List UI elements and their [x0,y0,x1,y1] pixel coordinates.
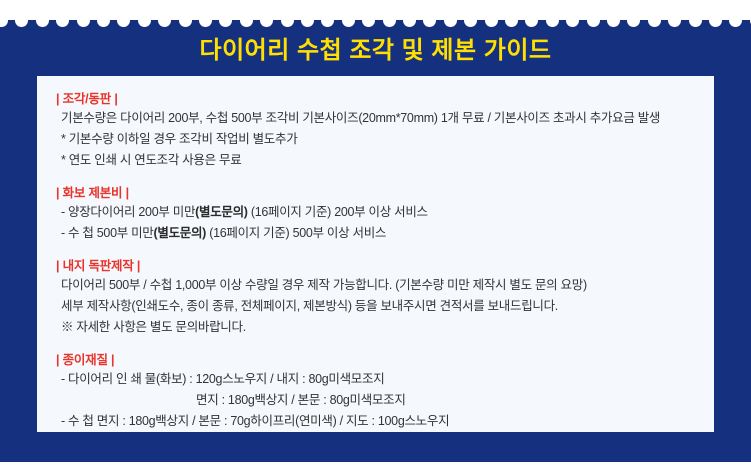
guide-banner: 다이어리 수첩 조각 및 제본 가이드 | 조각/동판 |기본수량은 다이어리 … [0,0,751,473]
page-title: 다이어리 수첩 조각 및 제본 가이드 [0,36,751,66]
line-text: 기본수량은 다이어리 200부, 수첩 500부 조각비 기본사이즈(20mm*… [61,111,660,125]
line-text: 세부 제작사항(인쇄도수, 종이 종류, 전체페이지, 제본방식) 등을 보내주… [61,299,558,313]
section-spacer [37,171,714,184]
guide-section: | 내지 독판제작 |다이어리 500부 / 수첩 1,000부 이상 수량일 … [37,257,714,338]
section-spacer [37,338,714,351]
emphasis-text: (별도문의) [195,205,248,219]
section-line: 면지 : 180g백상지 / 본문 : 80g미색모조지 [61,390,714,411]
section-header: | 화보 제본비 | [37,184,714,202]
guide-section: | 화보 제본비 |- 양장다이어리 200부 미만(별도문의) (16페이지 … [37,184,714,244]
line-text: 면지 : 180g백상지 / 본문 : 80g미색모조지 [196,393,406,407]
section-body: 다이어리 500부 / 수첩 1,000부 이상 수량일 경우 제작 가능합니다… [37,275,714,338]
guide-section: | 조각/동판 |기본수량은 다이어리 200부, 수첩 500부 조각비 기본… [37,90,714,171]
line-text: 다이어리 500부 / 수첩 1,000부 이상 수량일 경우 제작 가능합니다… [61,278,587,292]
section-header: | 조각/동판 | [37,90,714,108]
section-line: ※ 자세한 사항은 별도 문의바랍니다. [61,317,714,338]
section-header: | 종이재질 | [37,351,714,369]
line-text: - 다이어리 인 쇄 물(화보) : 120g스노우지 / 내지 : 80g미색… [61,372,384,386]
emphasis-text: (별도문의) [154,226,207,240]
line-text: - 수 첩 500부 미만 [61,226,154,240]
line-text: ※ 자세한 사항은 별도 문의바랍니다. [61,320,246,334]
line-text: * 기본수량 이하일 경우 조각비 작업비 별도추가 [61,132,297,146]
section-line: 다이어리 500부 / 수첩 1,000부 이상 수량일 경우 제작 가능합니다… [61,275,714,296]
section-line: - 다이어리 인 쇄 물(화보) : 120g스노우지 / 내지 : 80g미색… [61,369,714,390]
line-text: (16페이지 기준) 500부 이상 서비스 [206,226,386,240]
line-text: - 수 첩 면지 : 180g백상지 / 본문 : 70g하이프리(연미색) /… [61,414,449,428]
section-spacer [37,244,714,257]
section-line: - 양장다이어리 200부 미만(별도문의) (16페이지 기준) 200부 이… [61,202,714,223]
section-line: 기본수량은 다이어리 200부, 수첩 500부 조각비 기본사이즈(20mm*… [61,108,714,129]
section-line: - 수 첩 면지 : 180g백상지 / 본문 : 70g하이프리(연미색) /… [61,411,714,432]
section-body: - 양장다이어리 200부 미만(별도문의) (16페이지 기준) 200부 이… [37,202,714,244]
guide-content-card: | 조각/동판 |기본수량은 다이어리 200부, 수첩 500부 조각비 기본… [37,76,714,432]
section-body: 기본수량은 다이어리 200부, 수첩 500부 조각비 기본사이즈(20mm*… [37,108,714,171]
section-line: * 기본수량 이하일 경우 조각비 작업비 별도추가 [61,129,714,150]
sections-container: | 조각/동판 |기본수량은 다이어리 200부, 수첩 500부 조각비 기본… [37,90,714,432]
section-line: 세부 제작사항(인쇄도수, 종이 종류, 전체페이지, 제본방식) 등을 보내주… [61,296,714,317]
section-body: - 다이어리 인 쇄 물(화보) : 120g스노우지 / 내지 : 80g미색… [37,369,714,432]
line-text: * 연도 인쇄 시 연도조각 사용은 무료 [61,153,241,167]
line-text: (16페이지 기준) 200부 이상 서비스 [248,205,428,219]
section-line: * 연도 인쇄 시 연도조각 사용은 무료 [61,150,714,171]
guide-section: | 종이재질 |- 다이어리 인 쇄 물(화보) : 120g스노우지 / 내지… [37,351,714,432]
section-line: - 수 첩 500부 미만(별도문의) (16페이지 기준) 500부 이상 서… [61,223,714,244]
line-text: - 양장다이어리 200부 미만 [61,205,195,219]
section-header: | 내지 독판제작 | [37,257,714,275]
